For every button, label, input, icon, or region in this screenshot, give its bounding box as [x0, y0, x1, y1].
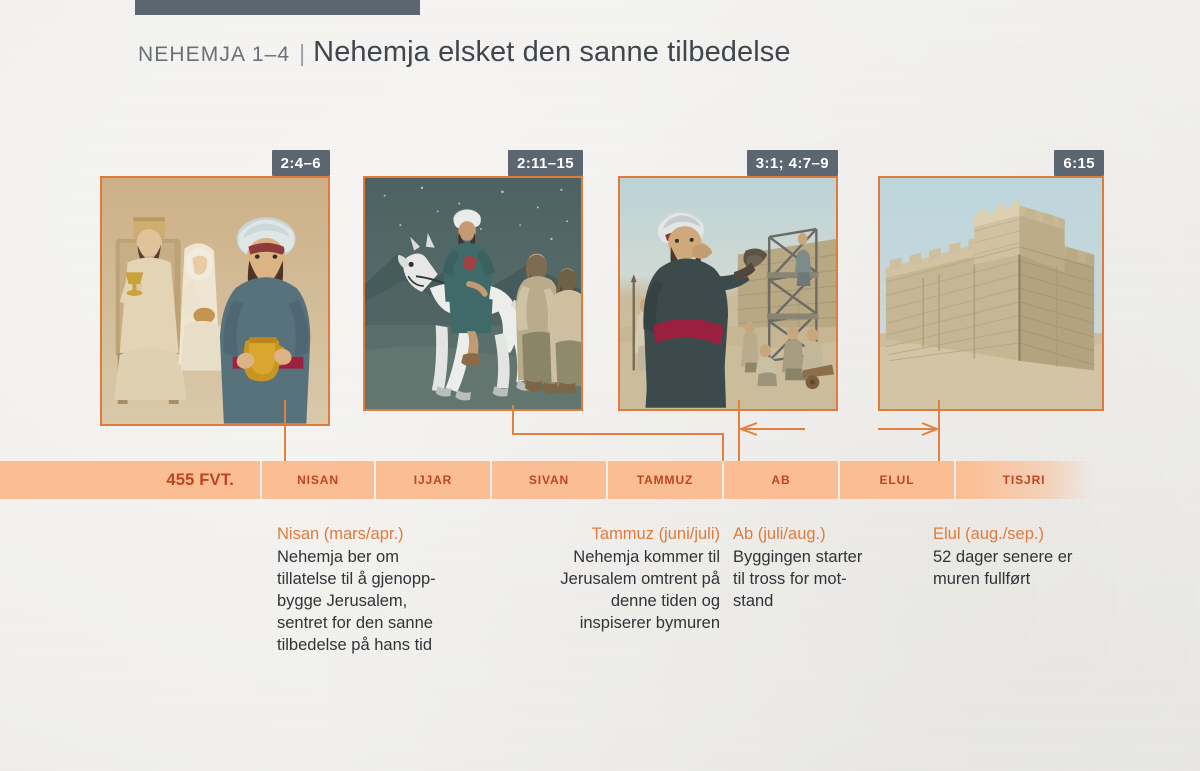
caption-elul-heading: Elul (aug./sep.) — [933, 525, 1123, 544]
caption-nisan-body: Nehemja ber om tillatelse til å gjenopp-… — [277, 547, 492, 657]
caption-ab: Ab (juli/aug.) Byggingen starter til tro… — [733, 525, 918, 613]
caption-elul-body: 52 dager senere er muren fullført — [933, 547, 1123, 591]
caption-line: 52 dager senere er — [933, 547, 1123, 569]
caption-line: tilbedelse på hans tid — [277, 635, 492, 657]
timeline-month-nisan[interactable]: NISAN — [262, 461, 376, 499]
timeline-month-elul[interactable]: ELUL — [840, 461, 956, 499]
caption-tammuz-heading: Tammuz (juni/juli) — [505, 525, 720, 544]
caption-tammuz: Tammuz (juni/juli) Nehemja kommer til Je… — [505, 525, 720, 635]
caption-line: Nehemja ber om — [277, 547, 492, 569]
timeline-band: 455 FVT. NISAN IJJAR SIVAN TAMMUZ AB ELU… — [0, 461, 1092, 499]
caption-line: Byggingen starter — [733, 547, 918, 569]
timeline-month-ab[interactable]: AB — [724, 461, 840, 499]
caption-line: til tross for mot- — [733, 569, 918, 591]
caption-line: inspiserer bymuren — [505, 613, 720, 635]
caption-nisan: Nisan (mars/apr.) Nehemja ber om tillate… — [277, 525, 492, 657]
poster-canvas: NEHEMJA 1–4 | Nehemja elsket den sanne t… — [0, 0, 1200, 771]
caption-elul: Elul (aug./sep.) 52 dager senere er mure… — [933, 525, 1123, 591]
timeline-month-sivan[interactable]: SIVAN — [492, 461, 608, 499]
caption-line: sentret for den sanne — [277, 613, 492, 635]
caption-tammuz-body: Nehemja kommer til Jerusalem omtrent på … — [505, 547, 720, 635]
caption-line: tillatelse til å gjenopp- — [277, 569, 492, 591]
timeline-month-tisjri[interactable]: TISJRI — [956, 461, 1092, 499]
caption-nisan-heading: Nisan (mars/apr.) — [277, 525, 492, 544]
timeline-month-tammuz[interactable]: TAMMUZ — [608, 461, 724, 499]
timeline-month-ijjar[interactable]: IJJAR — [376, 461, 492, 499]
caption-ab-body: Byggingen starter til tross for mot- sta… — [733, 547, 918, 613]
duration-arrows — [0, 0, 1200, 771]
caption-line: Nehemja kommer til — [505, 547, 720, 569]
caption-line: stand — [733, 591, 918, 613]
caption-line: muren fullført — [933, 569, 1123, 591]
caption-line: bygge Jerusalem, — [277, 591, 492, 613]
caption-line: denne tiden og — [505, 591, 720, 613]
timeline-year-label: 455 FVT. — [0, 461, 262, 499]
caption-line: Jerusalem omtrent på — [505, 569, 720, 591]
caption-ab-heading: Ab (juli/aug.) — [733, 525, 918, 544]
